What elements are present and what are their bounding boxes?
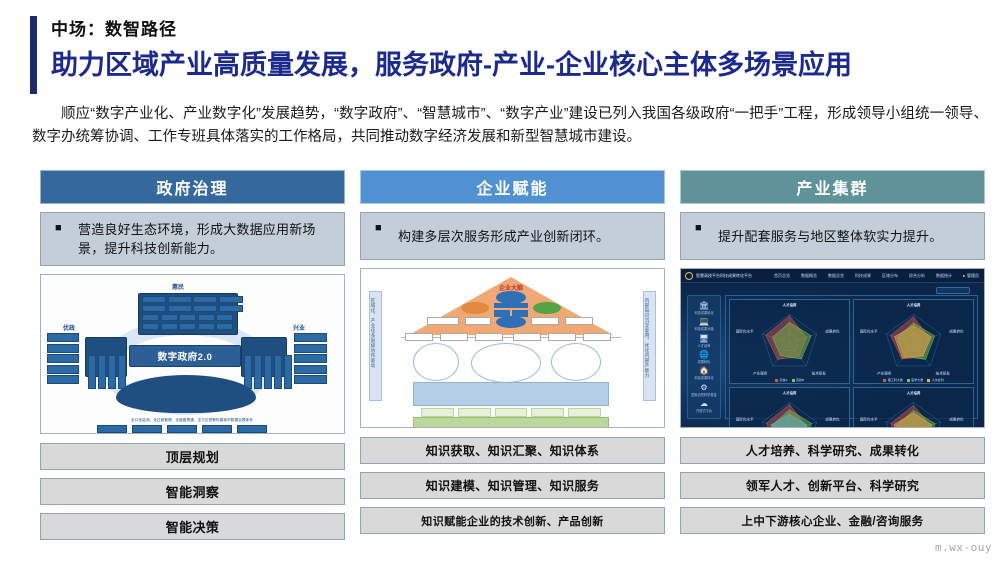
- diagram-side-panel-right: 内部知识沉淀复用，优化内部产能力: [643, 291, 656, 401]
- tag-item[interactable]: 顶层规划: [40, 443, 345, 470]
- column-government-governance: 政府治理 ■ 营造良好生态环境，形成大数据应用新场景，提升科技创新能力。 惠民 …: [40, 170, 345, 550]
- sidebar-item-1[interactable]: 💻 科技成果对接: [694, 317, 713, 331]
- user-name: 管理员: [967, 273, 979, 279]
- bubble-intelligent-practice: [496, 316, 526, 328]
- radar-legend-0: 高校A 高校B: [730, 378, 849, 382]
- dashboard-topbar: 智慧高校平台科技成果转化平台 首页总览 数据概览 数据总览 科技成果 区域分布 …: [681, 269, 984, 283]
- column-header-enterprise: 企业赋能: [360, 170, 665, 204]
- legend-label: 理工科大类: [888, 378, 903, 382]
- svg-text:成果转化: 成果转化: [949, 417, 964, 422]
- center-loop-oval: [471, 343, 541, 383]
- svg-text:技术研发: 技术研发: [936, 371, 951, 376]
- radar-chart-grid: 人才培养 人才培养成果转化技术研发产业服务国际化水平 高校A 高校B 人才培养 …: [725, 295, 978, 419]
- tag-item[interactable]: 智能洞察: [40, 478, 345, 505]
- diagram-label-right: 兴业: [293, 323, 305, 332]
- diagram-label-top: 惠民: [172, 282, 184, 291]
- sidebar-item-label: 科技成果对接: [694, 326, 713, 331]
- diagram-side-left-text: 区域化、产业化多层级协作驱动: [370, 292, 376, 368]
- nav-item[interactable]: 首页总览: [774, 273, 790, 279]
- dashboard-brand: 智慧高校平台科技成果转化平台: [696, 273, 752, 279]
- diagram-footer-caption: 全口径监测、全过程管理、全链路贯通、全方位预警构建城市数据治理体系: [87, 418, 297, 423]
- diagram-side-right-text: 内部知识沉淀复用，优化内部产能力: [644, 292, 650, 378]
- nav-item[interactable]: 数据统计: [936, 273, 952, 279]
- title-accent-bar: [30, 16, 37, 94]
- radar-legend-1: 理工科大类 医学大类 人文社科: [854, 378, 973, 382]
- legend-label: 人文社科: [932, 378, 944, 382]
- radar-chart-3[interactable]: 人才培养 人才培养成果转化技术研发产业服务国际化水平 2021年 2022年 2…: [853, 387, 974, 428]
- dashboard-sidebar: 🏛 科技成果转化 💻 科技成果对接 🖥 人才培养 🌐: [687, 295, 721, 419]
- sidebar-item-label: 科技成果转化: [694, 310, 713, 315]
- slide-root: 中场：数智路径 助力区域产业高质量发展，服务政府-产业-企业核心主体多场景应用 …: [0, 0, 1000, 562]
- column-enterprise-empowerment: 企业赋能 ■ 构建多层次服务形成产业创新闭环。 区域化、产业化多层级协作驱动 内…: [360, 170, 665, 550]
- radar-chart-0[interactable]: 人才培养 人才培养成果转化技术研发产业服务国际化水平 高校A 高校B: [729, 299, 850, 384]
- user-menu[interactable]: ● 管理员: [963, 273, 979, 279]
- legend-label: 高校B: [796, 378, 804, 382]
- svg-text:成果转化: 成果转化: [825, 417, 840, 422]
- watermark: m.wx-ouy: [935, 541, 992, 554]
- bullet-marker-icon: ■: [55, 223, 69, 234]
- dashboard-filter-select[interactable]: [936, 287, 970, 294]
- bullet-text-government: 营造良好生态环境，形成大数据应用新场景，提升科技创新能力。: [78, 220, 334, 258]
- kicker-text: 中场：数智路径: [51, 16, 852, 42]
- home-icon: 🏠: [694, 366, 713, 375]
- bullet-marker-icon: ■: [375, 223, 389, 234]
- knowledge-center-band: [413, 417, 609, 428]
- svg-text:成果转化: 成果转化: [949, 328, 964, 333]
- bullet-text-industry: 提升配套服务与地区整体软实力提升。: [718, 227, 942, 246]
- user-avatar-icon: ●: [963, 273, 965, 278]
- radar-axis-top-label: 人才培养: [854, 302, 973, 307]
- tag-item[interactable]: 知识获取、知识汇聚、知识体系: [360, 437, 665, 464]
- bubble-intelligent-perception: [461, 302, 489, 314]
- diagram-footer-pills: [97, 425, 267, 433]
- slide-header: 中场：数智路径 助力区域产业高质量发展，服务政府-产业-企业核心主体多场景应用: [30, 16, 990, 94]
- diagram-left-item-stack: [47, 333, 79, 384]
- role-band: [413, 382, 609, 406]
- bullet-marker-icon: ■: [695, 223, 709, 234]
- sidebar-item-5[interactable]: ⚙ 国家自然科学基金: [691, 383, 717, 397]
- tag-list-enterprise: 知识获取、知识汇聚、知识体系 知识建模、知识管理、知识服务 知识赋能企业的技术创…: [360, 437, 665, 534]
- svg-text:产业服务: 产业服务: [753, 371, 768, 376]
- svg-text:国际化水平: 国际化水平: [860, 417, 878, 422]
- diagram-right-item-stack: [294, 333, 327, 384]
- radar-axis-top-label: 人才培养: [854, 390, 973, 395]
- bubble-intelligent-decision: [533, 302, 561, 314]
- bullet-box-enterprise: ■ 构建多层次服务形成产业创新闭环。: [360, 212, 665, 260]
- tag-list-government: 顶层规划 智能洞察 智能决策: [40, 443, 345, 540]
- image-enterprise-brain-diagram: 区域化、产业化多层级协作驱动 内部知识沉淀复用，优化内部产能力 企业大脑: [360, 268, 665, 428]
- svg-text:国际化水平: 国际化水平: [736, 417, 754, 422]
- laptop-icon: 💻: [694, 317, 713, 326]
- radar-svg-0: 人才培养成果转化技术研发产业服务国际化水平: [730, 300, 849, 383]
- diagram-node-digital-foundation: [116, 375, 256, 413]
- sidebar-item-0[interactable]: 🏛 科技成果转化: [694, 301, 713, 315]
- radar-chart-1[interactable]: 人才培养 人才培养成果转化技术研发产业服务国际化水平 理工科大类 医学大类 人文…: [853, 299, 974, 384]
- svg-text:产业服务: 产业服务: [877, 371, 892, 376]
- diagram-label-left: 优政: [63, 323, 75, 332]
- nav-item[interactable]: 综合分析: [909, 273, 925, 279]
- column-header-industry: 产业集群: [680, 170, 985, 204]
- page-title: 助力区域产业高质量发展，服务政府-产业-企业核心主体多场景应用: [51, 47, 852, 83]
- right-loop-oval: [551, 343, 601, 381]
- bullet-box-government: ■ 营造良好生态环境，形成大数据应用新场景，提升科技创新能力。: [40, 212, 345, 266]
- knowledge-pill-row: [421, 408, 601, 417]
- svg-text:技术研发: 技术研发: [812, 371, 827, 376]
- legend-label: 医学大类: [911, 378, 923, 382]
- bullet-box-industry: ■ 提升配套服务与地区整体软实力提升。: [680, 212, 985, 260]
- nav-item[interactable]: 数据概览: [801, 273, 817, 279]
- monitor-icon: 🖥: [698, 334, 711, 343]
- tag-item[interactable]: 上中下游核心企业、金融/咨询服务: [680, 507, 985, 534]
- tag-item[interactable]: 智能决策: [40, 513, 345, 540]
- bullet-text-enterprise: 构建多层次服务形成产业创新闭环。: [398, 227, 609, 246]
- radar-chart-2[interactable]: 人才培养 人才培养成果转化技术研发产业服务国际化水平 企业孵化指标 专利转化率 …: [729, 387, 850, 428]
- sidebar-item-4[interactable]: 🏠 科技成果转化: [694, 366, 713, 380]
- tag-list-industry: 人才培养、科学研究、成果转化 领军人才、创新平台、科学研究 上中下游核心企业、金…: [680, 437, 985, 534]
- tag-item[interactable]: 领军人才、创新平台、科学研究: [680, 472, 985, 499]
- sidebar-item-2[interactable]: 🖥 人才培养: [698, 334, 711, 348]
- nav-item[interactable]: 科技成果: [855, 273, 871, 279]
- bank-icon: 🏛: [694, 301, 713, 310]
- sidebar-item-3[interactable]: 🌐 成果转化: [698, 350, 711, 364]
- sidebar-item-label: 科技成果转化: [694, 375, 713, 380]
- sidebar-item-label: 人才培养: [698, 343, 711, 348]
- nav-item[interactable]: 数据总览: [828, 273, 844, 279]
- svg-text:成果转化: 成果转化: [825, 328, 840, 333]
- nav-item[interactable]: 区域分布: [882, 273, 898, 279]
- sidebar-item-label: 开放式平台: [696, 408, 712, 413]
- svg-text:国际化水平: 国际化水平: [736, 328, 754, 333]
- cloud-icon: ☁: [696, 399, 712, 408]
- image-digital-government-diagram: 惠民 优政 兴业: [40, 274, 345, 434]
- radar-svg-1: 人才培养成果转化技术研发产业服务国际化水平: [854, 300, 973, 383]
- image-industry-dashboard: 智慧高校平台科技成果转化平台 首页总览 数据概览 数据总览 科技成果 区域分布 …: [680, 268, 985, 428]
- globe-icon: 🌐: [698, 350, 711, 359]
- gear-icon: ⚙: [691, 383, 717, 392]
- tag-item[interactable]: 知识赋能企业的技术创新、产品创新: [360, 507, 665, 534]
- legend-label: 高校A: [779, 378, 787, 382]
- dashboard-nav: 首页总览 数据概览 数据总览 科技成果 区域分布 综合分析 数据统计: [774, 273, 952, 279]
- diagram-center-label: 数字政府2.0: [129, 345, 241, 367]
- sidebar-item-label: 国家自然科学基金: [691, 392, 717, 397]
- svg-text:国际化水平: 国际化水平: [860, 328, 878, 333]
- tag-item[interactable]: 人才培养、科学研究、成果转化: [680, 437, 985, 464]
- lead-paragraph: 顺应“数字产业化、产业数字化”发展趋势，“数字政府”、“智慧城市”、“数字产业”…: [32, 103, 988, 148]
- radar-axis-top-label: 人才培养: [730, 390, 849, 395]
- three-column-body: 政府治理 ■ 营造良好生态环境，形成大数据应用新场景，提升科技创新能力。 惠民 …: [40, 170, 985, 550]
- radar-axis-top-label: 人才培养: [730, 302, 849, 307]
- sidebar-item-6[interactable]: ☁ 开放式平台: [696, 399, 712, 413]
- diagram-side-panel-left: 区域化、产业化多层级协作驱动: [369, 291, 382, 401]
- brand-logo-icon: [685, 272, 693, 280]
- sidebar-item-label: 成果转化: [698, 359, 711, 364]
- column-header-government: 政府治理: [40, 170, 345, 204]
- left-loop-oval: [413, 343, 459, 381]
- column-industry-cluster: 产业集群 ■ 提升配套服务与地区整体软实力提升。 智慧高校平台科技成果转化平台 …: [680, 170, 985, 550]
- tag-item[interactable]: 知识建模、知识管理、知识服务: [360, 472, 665, 499]
